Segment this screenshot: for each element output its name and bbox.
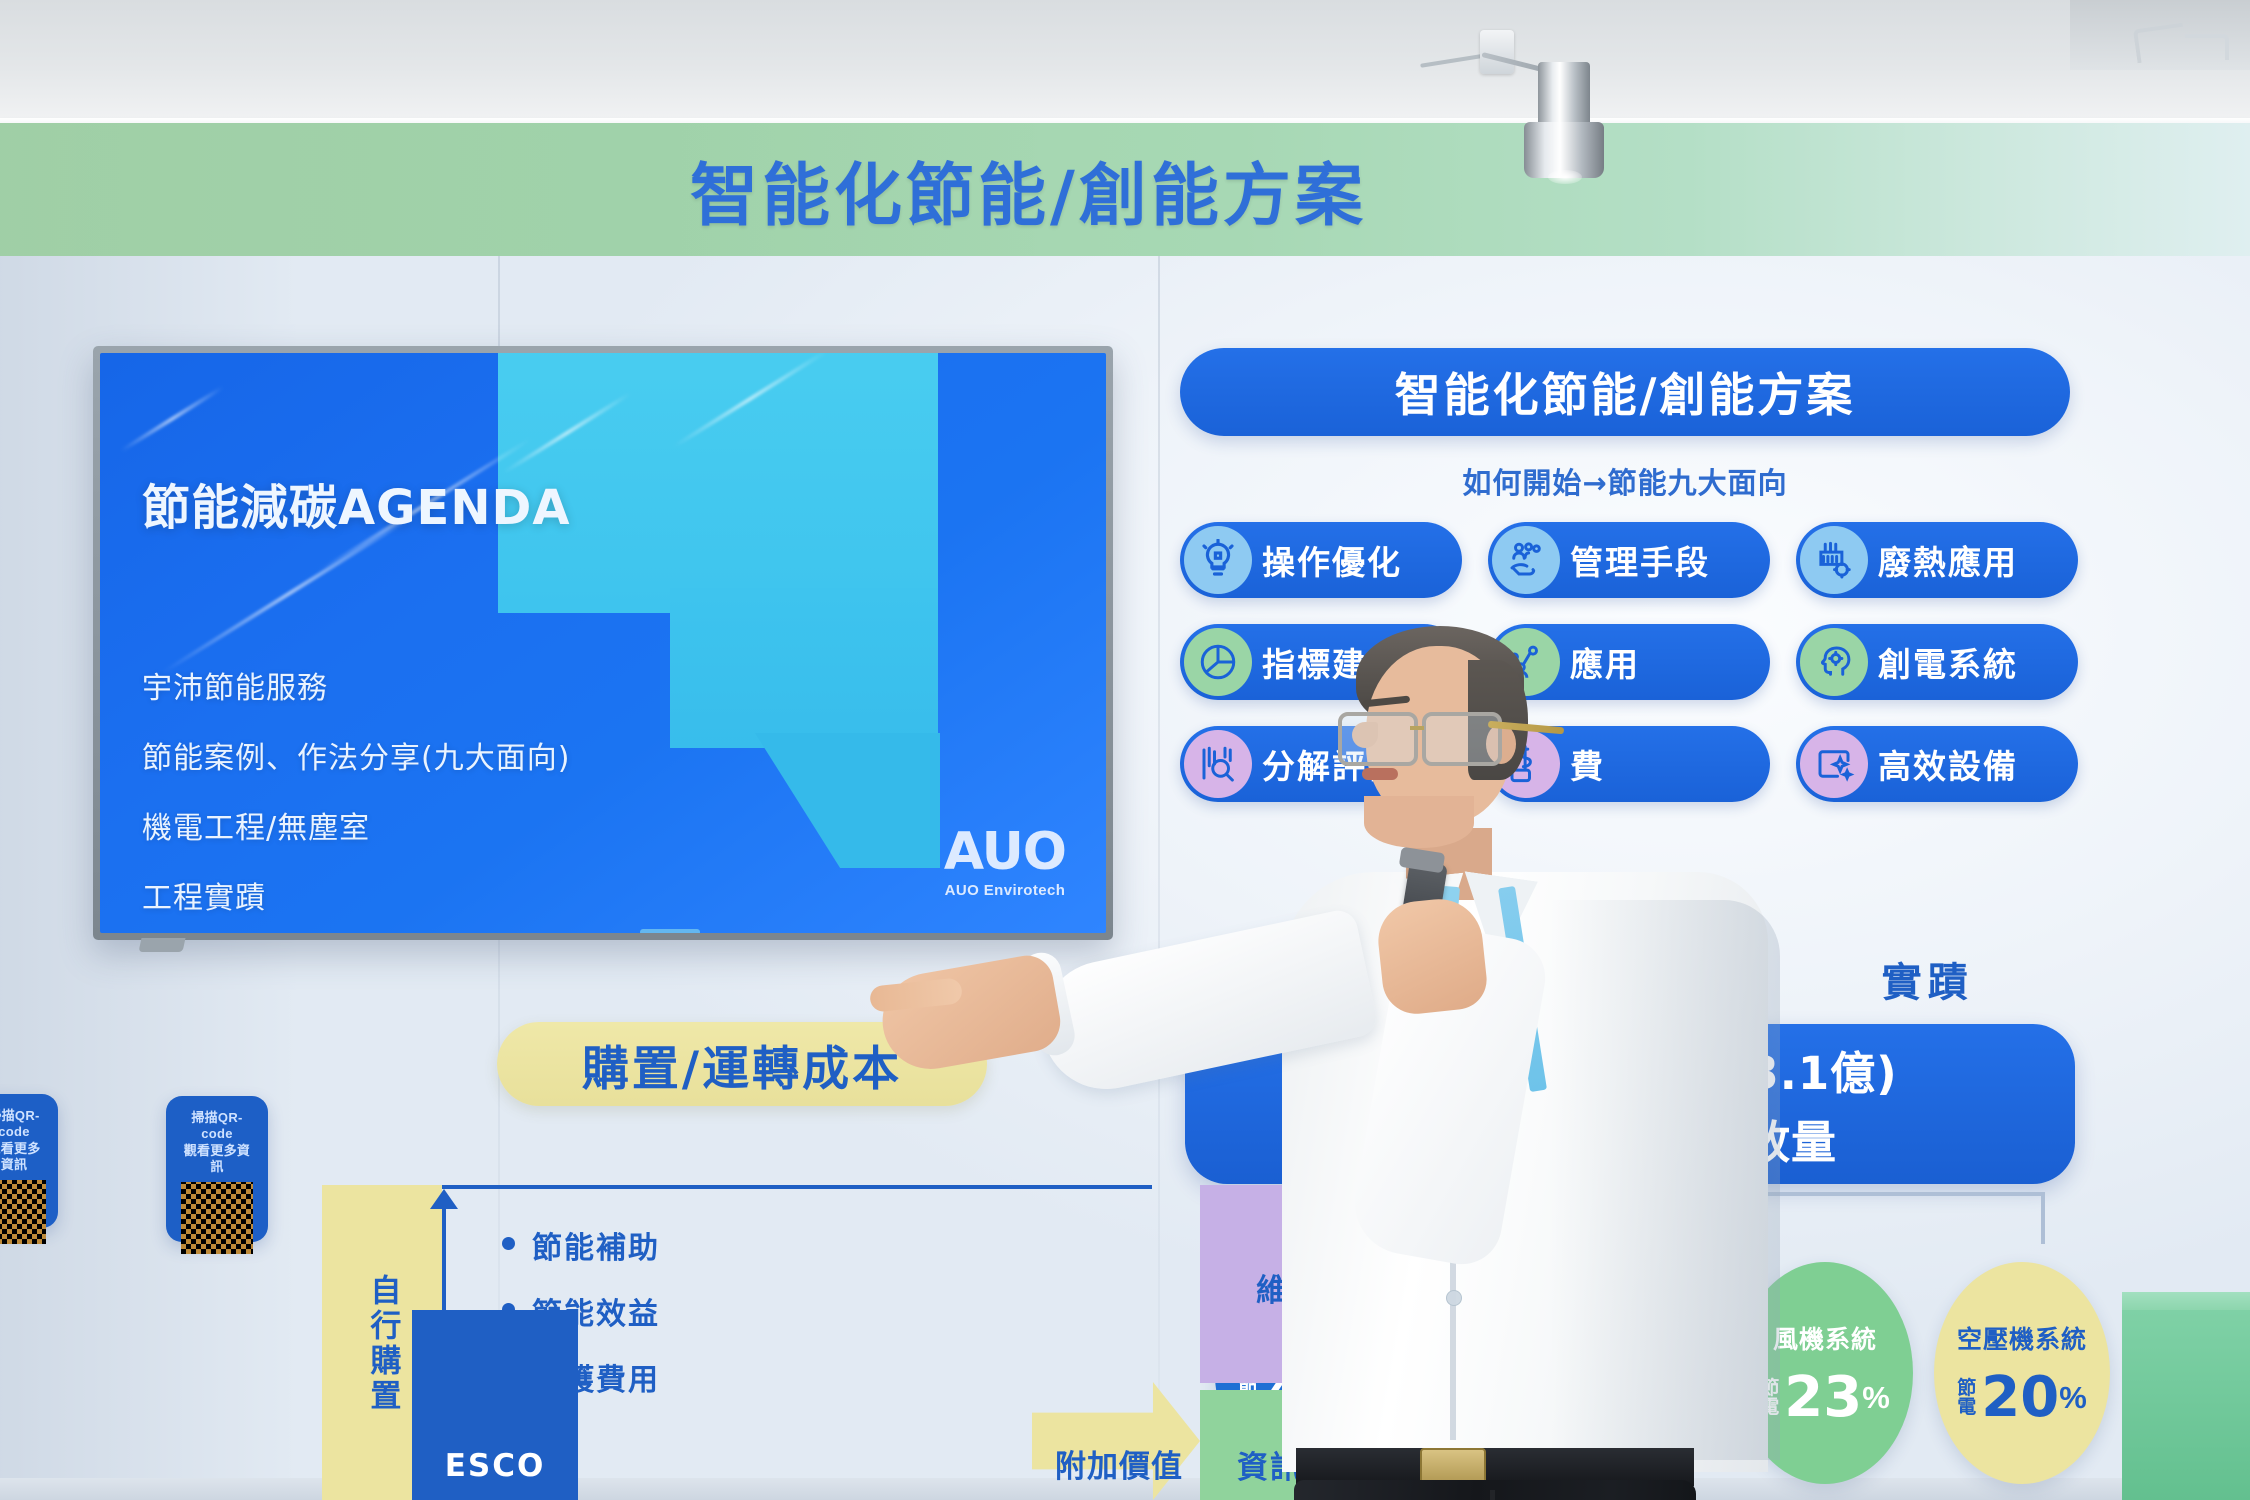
stat-name: 空壓機系統 bbox=[1957, 1320, 2087, 1356]
pill-label: 管理手段 bbox=[1570, 536, 1710, 584]
poster-header-label: 智能化節能/創能方案 bbox=[1395, 359, 1856, 425]
display-plinth bbox=[2122, 1310, 2250, 1500]
wall-seam bbox=[1158, 256, 1160, 1500]
presenter bbox=[1300, 600, 1820, 1500]
slide-bullet-list: 宇沛節能服務 節能案例、作法分享(九大面向) 機電工程/無塵室 工程實蹟 bbox=[142, 663, 570, 933]
trouser-crease bbox=[1490, 1490, 1495, 1500]
slide-shape bbox=[670, 588, 938, 748]
tv-indicator-light bbox=[640, 929, 700, 933]
shirt-button bbox=[1446, 1290, 1462, 1306]
pill-label: 操作優化 bbox=[1262, 536, 1402, 584]
poster-subtitle: 如何開始→節能九大面向 bbox=[1180, 460, 2070, 502]
chart-bar: ESCO bbox=[412, 1310, 578, 1500]
stat-unit: % bbox=[1862, 1380, 1890, 1416]
aspect-pill-operation-optimization[interactable]: 操作優化 bbox=[1180, 522, 1462, 598]
slide-title: 節能減碳AGENDA bbox=[142, 468, 571, 538]
qr-card[interactable]: 掃描QR-code 觀看更多資訊 bbox=[0, 1094, 58, 1228]
auo-logo: AUO AUO Envirotech bbox=[944, 826, 1066, 899]
slide-shape bbox=[755, 733, 940, 868]
shirt-shading bbox=[1550, 900, 1780, 1460]
slide-bullet: 工程實蹟 bbox=[142, 873, 570, 917]
pie-chart-icon bbox=[1184, 628, 1252, 696]
presenter-jaw bbox=[1364, 796, 1474, 848]
pill-label: 創電系統 bbox=[1878, 638, 2018, 686]
magnifier-data-icon bbox=[1184, 730, 1252, 798]
pill-label: 廢熱應用 bbox=[1878, 536, 2018, 584]
cost-chart-title: 購置/運轉成本 bbox=[582, 1030, 902, 1099]
slide-bullet: 節能案例、作法分享(九大面向) bbox=[142, 733, 570, 777]
cost-comparison-chart: 自行購置 節能補助 節能效益 維護費用 ESCO 附加價值 維護 資訊 穩定 bbox=[322, 1185, 1152, 1500]
ceiling bbox=[0, 0, 2250, 125]
connector-vertical bbox=[2041, 1192, 2045, 1244]
ceiling-hook-icon bbox=[2185, 34, 2229, 60]
auo-sublabel: AUO Envirotech bbox=[944, 882, 1066, 899]
auo-wordmark: AUO bbox=[944, 826, 1066, 878]
qr-code-image bbox=[181, 1182, 253, 1254]
stat-unit: % bbox=[2059, 1380, 2087, 1416]
qr-caption: 掃描QR-code 觀看更多資訊 bbox=[0, 1108, 46, 1173]
aspect-pill-high-efficiency-equipment[interactable]: 高效設備 bbox=[1796, 726, 2078, 802]
pill-row: 操作優化 管理手段 bbox=[1180, 522, 2080, 598]
qr-caption: 掃描QR-code 觀看更多資訊 bbox=[178, 1110, 256, 1175]
booth-photo-scene: 智能化節能/創能方案 節能減碳AGENDA 宇沛節能服務 節能案例、作法分享(九… bbox=[0, 0, 2250, 1500]
aspect-pill-waste-heat[interactable]: 廢熱應用 bbox=[1796, 522, 2078, 598]
banner-title: 智能化節能/創能方案 bbox=[690, 140, 1490, 239]
lamp-glow bbox=[1548, 170, 1582, 184]
presenter-mouth bbox=[1362, 768, 1398, 780]
aspect-pill-management[interactable]: 管理手段 bbox=[1488, 522, 1770, 598]
factory-gear-icon bbox=[1800, 526, 1868, 594]
people-hand-icon bbox=[1492, 526, 1560, 594]
qr-card[interactable]: 掃描QR-code 觀看更多資訊 bbox=[166, 1096, 268, 1242]
achievement-year-suffix: 實蹟 bbox=[1882, 960, 1974, 1006]
eyeglasses-icon bbox=[1338, 708, 1524, 764]
aspect-pill-power-generation[interactable]: 創電系統 bbox=[1796, 624, 2078, 700]
slide-bullet: 機電工程/無塵室 bbox=[142, 803, 570, 847]
stat-keyword: 節電 bbox=[1957, 1379, 1976, 1417]
slide-streak bbox=[120, 386, 224, 453]
qr-code-image bbox=[0, 1180, 46, 1244]
stat-bubble-air-compressor: 空壓機系統 節電 20 % bbox=[1934, 1262, 2110, 1484]
presenter-trousers bbox=[1294, 1480, 1696, 1500]
pill-label: 高效設備 bbox=[1878, 740, 2018, 788]
chart-bar-label: ESCO bbox=[445, 1447, 546, 1486]
tv-monitor[interactable]: 節能減碳AGENDA 宇沛節能服務 節能案例、作法分享(九大面向) 機電工程/無… bbox=[93, 346, 1113, 940]
stat-value-group: 節電 20 % bbox=[1957, 1370, 2087, 1426]
poster-header: 智能化節能/創能方案 bbox=[1180, 348, 2070, 436]
ceiling-hook-icon bbox=[2133, 23, 2187, 64]
tv-screen: 節能減碳AGENDA 宇沛節能服務 節能案例、作法分享(九大面向) 機電工程/無… bbox=[100, 353, 1106, 933]
stat-number: 20 bbox=[1981, 1370, 2059, 1426]
glasses-bridge bbox=[1410, 726, 1424, 730]
chart-bar-label: 自行購置 bbox=[363, 1274, 402, 1414]
tv-stand bbox=[139, 938, 186, 952]
slide-bullet: 宇沛節能服務 bbox=[142, 663, 570, 707]
glasses-lens bbox=[1338, 712, 1418, 766]
chart-annotation: 節能補助 bbox=[502, 1223, 660, 1267]
arrow-up-icon bbox=[430, 1189, 458, 1209]
added-value-label: 附加價值 bbox=[1044, 1441, 1194, 1486]
lightbulb-icon bbox=[1184, 526, 1252, 594]
